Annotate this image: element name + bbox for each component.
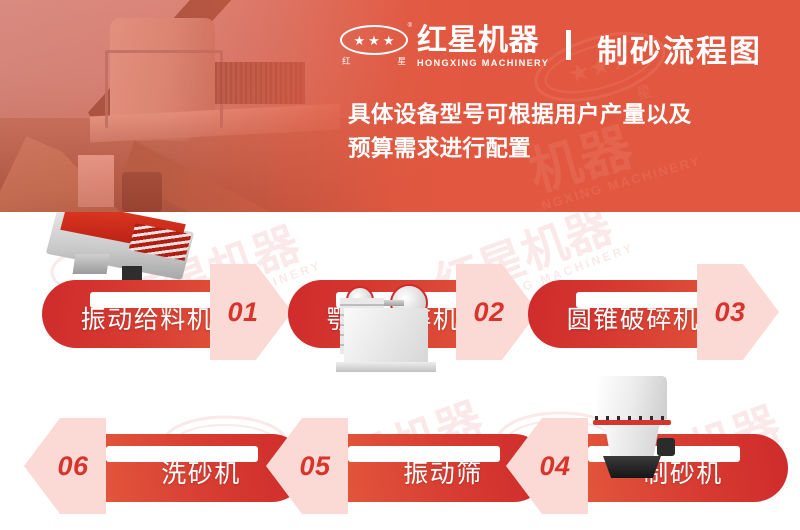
flow-step-04[interactable]: 制砂机 bbox=[578, 434, 788, 502]
header-subtitle: 具体设备型号可根据用户产量以及 预算需求进行配置 bbox=[348, 98, 692, 166]
step-number: 06 bbox=[57, 451, 88, 482]
subtitle-line-2: 预算需求进行配置 bbox=[348, 132, 692, 166]
flow-arrow-03: 03 bbox=[697, 264, 779, 360]
flow-arrow-01: 01 bbox=[210, 264, 292, 360]
step-label: 制砂机 bbox=[578, 460, 788, 489]
process-flow-board: 红星机器 HONGXING MACHINERY 红星机器 HONGXING MA… bbox=[0, 212, 800, 530]
logo-sub-right: 星 bbox=[397, 55, 406, 67]
brand-name-cn: 红星机器 bbox=[417, 26, 549, 56]
step-number: 05 bbox=[299, 451, 330, 482]
step-number: 01 bbox=[227, 297, 258, 328]
brand-lockup: ★★★ ® 红 星 红星机器 HONGXING MACHINERY bbox=[340, 24, 549, 69]
page-title: 制砂流程图 bbox=[597, 26, 762, 71]
flow-arrow-02: 02 bbox=[456, 264, 538, 360]
step-number: 03 bbox=[714, 297, 745, 328]
vibrating-feeder-icon bbox=[48, 212, 198, 286]
logo-sub-left: 红 bbox=[342, 55, 351, 67]
header-banner: ★★★ 红 星 机器 NGXING MACHINERY ★★★ ® 红 星 红星… bbox=[0, 0, 800, 212]
step-number: 02 bbox=[473, 297, 504, 328]
subtitle-line-1: 具体设备型号可根据用户产量以及 bbox=[348, 98, 692, 132]
brand-name-en: HONGXING MACHINERY bbox=[417, 58, 549, 68]
hongxing-logo-icon: ★★★ ® 红 星 bbox=[340, 24, 408, 69]
registered-mark: ® bbox=[408, 23, 412, 29]
flow-arrow-06: 06 bbox=[24, 418, 106, 514]
title-divider bbox=[566, 30, 571, 60]
step-number: 04 bbox=[539, 451, 570, 482]
